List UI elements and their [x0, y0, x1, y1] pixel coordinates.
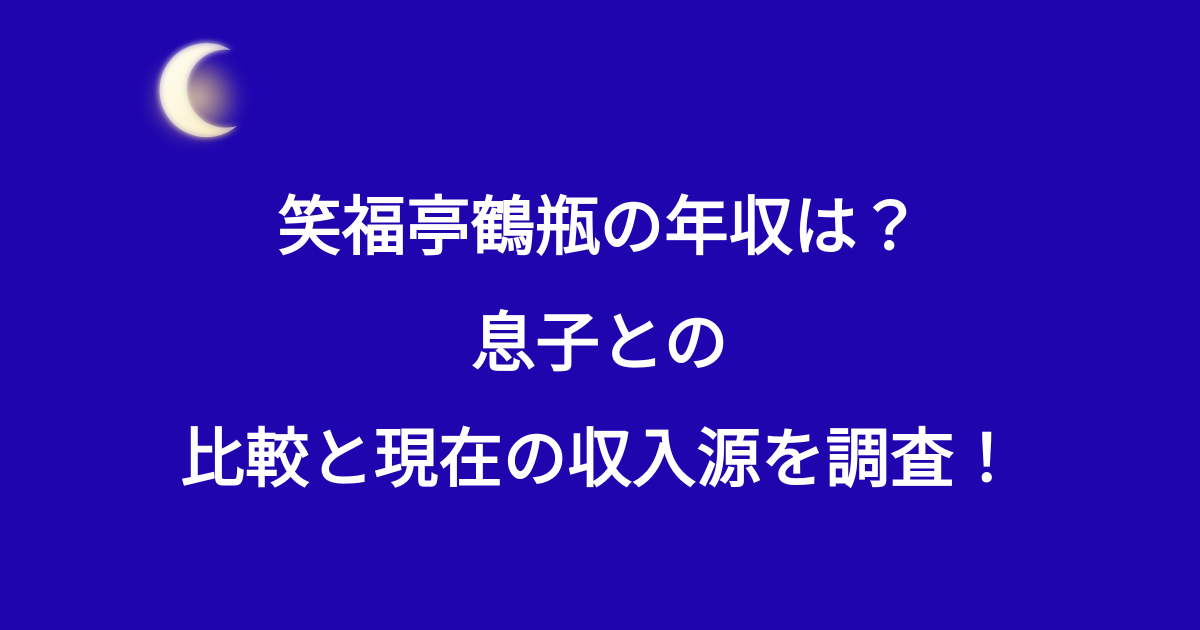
title-line-2: 息子との — [471, 286, 728, 402]
headline-block: 笑福亭鶴瓶の年収は？ 息子との 比較と現在の収入源を調査！ — [0, 0, 1200, 630]
title-line-1: 笑福亭鶴瓶の年収は？ — [278, 170, 923, 286]
title-line-3: 比較と現在の収入源を調査！ — [181, 402, 1020, 518]
eyecatch-image: 笑福亭鶴瓶の年収は？ 息子との 比較と現在の収入源を調査！ — [0, 0, 1200, 630]
